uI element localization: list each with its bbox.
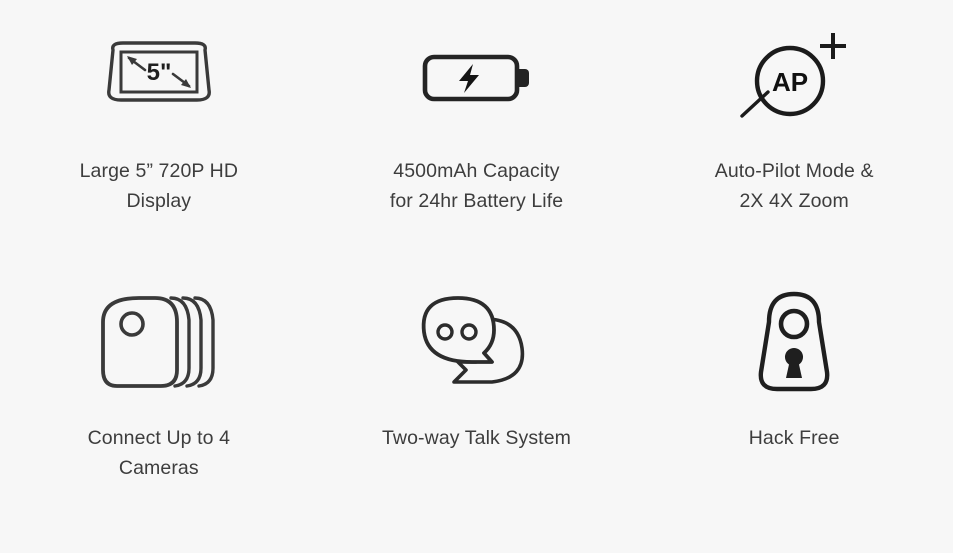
battery-charging-icon bbox=[421, 18, 531, 138]
feature-caption: Connect Up to 4 Cameras bbox=[88, 423, 230, 483]
display-size-label: 5" bbox=[146, 59, 171, 86]
feature-caption: 4500mAh Capacity for 24hr Battery Life bbox=[390, 156, 563, 216]
auto-pilot-label: AP bbox=[772, 67, 808, 97]
feature-caption: Hack Free bbox=[749, 423, 840, 453]
feature-caption: Auto-Pilot Mode & 2X 4X Zoom bbox=[715, 156, 874, 216]
feature-item-autopilot: AP Auto-Pilot Mode & 2X 4X Zoom bbox=[635, 18, 953, 283]
feature-caption: Large 5” 720P HD Display bbox=[80, 156, 238, 216]
feature-caption: Two-way Talk System bbox=[382, 423, 571, 453]
two-way-talk-bubbles-icon bbox=[414, 283, 539, 401]
magnifier-auto-pilot-icon: AP bbox=[734, 18, 854, 138]
feature-grid: 5" Large 5” 720P HD Display 4500mAh Capa… bbox=[0, 0, 953, 535]
display-5-inch-icon: 5" bbox=[99, 18, 219, 138]
feature-item-hackfree: Hack Free bbox=[635, 283, 953, 553]
feature-item-talk: Two-way Talk System bbox=[318, 283, 636, 553]
feature-item-battery: 4500mAh Capacity for 24hr Battery Life bbox=[318, 18, 636, 283]
feature-item-cameras: Connect Up to 4 Cameras bbox=[0, 283, 318, 553]
feature-item-display: 5" Large 5” 720P HD Display bbox=[0, 18, 318, 283]
camera-keyhole-lock-icon bbox=[749, 283, 839, 401]
multiple-cameras-icon bbox=[99, 283, 219, 401]
